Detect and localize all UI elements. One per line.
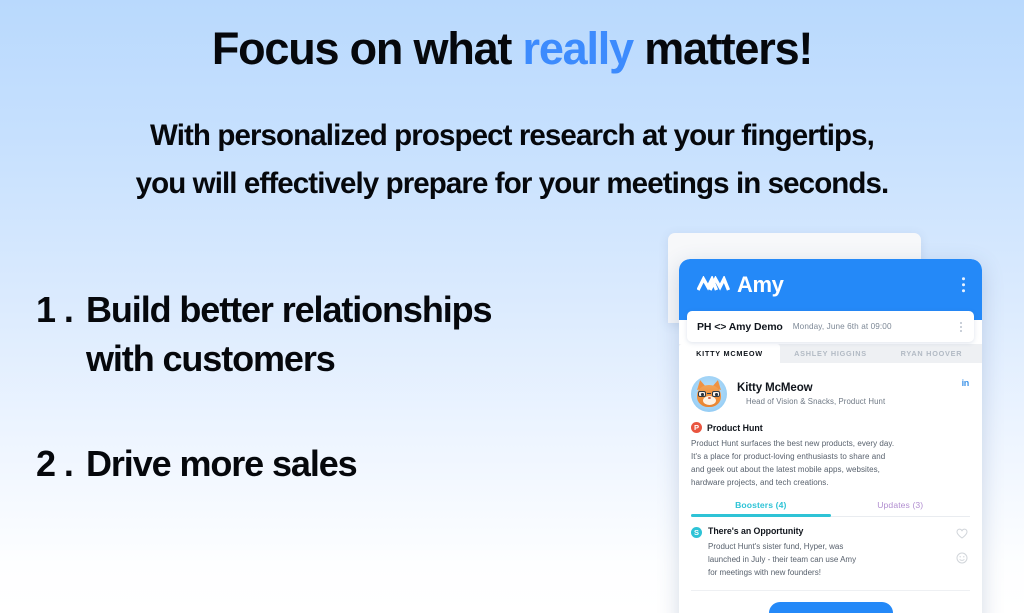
tab-ashley-higgins[interactable]: ASHLEY HIGGINS: [780, 344, 881, 363]
glasses-icon: [698, 391, 720, 397]
company-row: P Product Hunt: [691, 422, 970, 433]
tab-ryan-hoover[interactable]: RYAN HOOVER: [881, 344, 982, 363]
avatar: [691, 376, 727, 412]
app-header: Amy: [679, 259, 982, 310]
profile-name: Kitty McMeow: [737, 382, 885, 394]
brand: Amy: [697, 272, 784, 298]
kebab-dot: [962, 289, 965, 292]
profile-info: Kitty McMeow Head of Vision & Snacks, Pr…: [737, 382, 885, 406]
kebab-dot: [960, 330, 962, 332]
content-tabs: Boosters (4) Updates (3): [691, 500, 970, 517]
amy-logo-icon: [697, 276, 731, 293]
subheadline: With personalized prospect research at y…: [0, 112, 1024, 208]
list-item: 2 . Drive more sales: [36, 440, 616, 489]
tab-boosters[interactable]: Boosters (4): [691, 500, 831, 516]
tab-kitty-mcmeow[interactable]: KITTY MCMEOW: [679, 344, 780, 363]
booster-desc-line-1: Product Hunt's sister fund, Hyper, was: [708, 541, 856, 554]
company-desc-line-1: Product Hunt surfaces the best new produ…: [691, 438, 970, 451]
meeting-date: Monday, June 6th at 09:00: [793, 322, 892, 331]
linkedin-icon[interactable]: in: [962, 378, 969, 388]
attendee-tabs: KITTY MCMEOW ASHLEY HIGGINS RYAN HOOVER: [679, 344, 982, 363]
company-desc-line-3: and geek out about the latest mobile app…: [691, 464, 970, 477]
lens-left: [698, 391, 706, 397]
kebab-dot: [960, 326, 962, 328]
primary-action-button[interactable]: [769, 602, 893, 613]
profile-section: Kitty McMeow Head of Vision & Snacks, Pr…: [691, 363, 970, 421]
app-body: Kitty McMeow Head of Vision & Snacks, Pr…: [679, 363, 982, 613]
list-item-text: Drive more sales: [86, 440, 616, 489]
app-window: Amy PH <> Amy Demo Monday, June 6th at 0…: [679, 259, 982, 613]
promo-slide: Focus on what really matters! With perso…: [0, 0, 1024, 613]
booster-title: There's an Opportunity: [708, 526, 856, 536]
kebab-dot: [960, 322, 962, 324]
glasses-bridge: [707, 393, 711, 394]
cat-avatar-icon: [691, 376, 727, 412]
booster-item[interactable]: S There's an Opportunity Product Hunt's …: [691, 517, 970, 591]
opportunity-badge-icon: S: [691, 527, 702, 538]
company-name: Product Hunt: [707, 423, 763, 433]
overflow-menu-icon[interactable]: [962, 277, 965, 293]
meeting-overflow-icon[interactable]: [960, 322, 962, 332]
list-item-text: Build better relationships with customer…: [86, 286, 616, 384]
lens-right: [712, 391, 720, 397]
app-mockup: Amy PH <> Amy Demo Monday, June 6th at 0…: [657, 233, 1024, 613]
company-desc-line-2: It's a place for product-loving enthusia…: [691, 451, 970, 464]
subheadline-line-2: you will effectively prepare for your me…: [0, 160, 1024, 208]
cat-nose: [708, 397, 711, 399]
kebab-dot: [962, 277, 965, 280]
list-item-line-1: Drive more sales: [86, 440, 616, 489]
emoji-reaction-icon[interactable]: [956, 552, 968, 564]
list-item: 1 . Build better relationships with cust…: [36, 286, 616, 384]
headline-part-2: matters!: [633, 23, 812, 74]
company-description: Product Hunt surfaces the best new produ…: [691, 438, 970, 490]
page-title: Focus on what really matters!: [0, 24, 1024, 74]
list-item-line-2: with customers: [86, 335, 616, 384]
kebab-dot: [962, 283, 965, 286]
list-item-number: 1 .: [36, 286, 86, 335]
meeting-card[interactable]: PH <> Amy Demo Monday, June 6th at 09:00: [687, 311, 974, 342]
tab-updates[interactable]: Updates (3): [831, 500, 971, 516]
meeting-title: PH <> Amy Demo: [697, 321, 783, 333]
booster-text: There's an Opportunity Product Hunt's si…: [708, 526, 856, 580]
cta-area: [691, 591, 970, 613]
company-desc-line-4: hardware projects, and tech creations.: [691, 477, 970, 490]
booster-desc-line-3: for meetings with new founders!: [708, 567, 856, 580]
booster-description: Product Hunt's sister fund, Hyper, was l…: [708, 541, 856, 580]
headline-accent-word: really: [523, 23, 633, 74]
list-item-number: 2 .: [36, 440, 86, 489]
brand-name: Amy: [737, 272, 784, 298]
list-item-line-1: Build better relationships: [86, 286, 616, 335]
heart-icon[interactable]: [956, 528, 968, 539]
benefit-list: 1 . Build better relationships with cust…: [36, 286, 616, 489]
booster-desc-line-2: launched in July - their team can use Am…: [708, 554, 856, 567]
subheadline-line-1: With personalized prospect research at y…: [0, 112, 1024, 160]
product-hunt-logo-icon: P: [691, 422, 702, 433]
headline-part-1: Focus on what: [212, 23, 523, 74]
booster-actions: [956, 528, 968, 564]
profile-role: Head of Vision & Snacks, Product Hunt: [746, 397, 885, 406]
